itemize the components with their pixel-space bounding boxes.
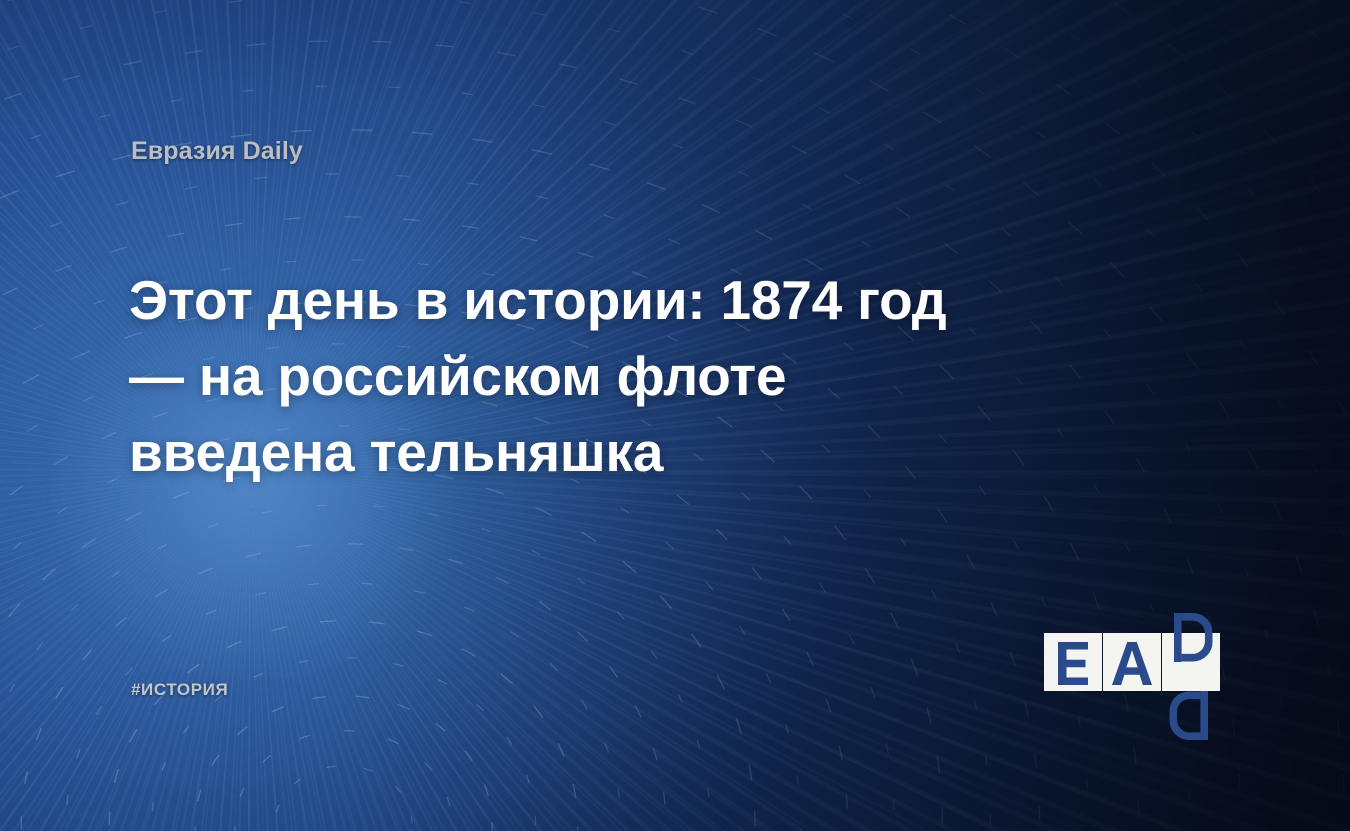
letter-a-icon — [1103, 633, 1161, 691]
logo-tile-a — [1103, 633, 1161, 691]
page-title: Этот день в истории: 1874 год — на росси… — [129, 262, 1009, 490]
letter-d-icon — [1162, 633, 1220, 691]
card-content: Евразия Daily Этот день в истории: 1874 … — [0, 0, 1350, 831]
category-tag[interactable]: #ИСТОРИЯ — [131, 680, 228, 700]
logo-tile-e — [1044, 633, 1102, 691]
eadaily-logo[interactable] — [1044, 633, 1220, 693]
logo-tile-d — [1162, 633, 1220, 691]
share-card: Евразия Daily Этот день в истории: 1874 … — [0, 0, 1350, 831]
letter-e-icon — [1044, 633, 1102, 691]
brand-name: Евразия Daily — [131, 137, 303, 166]
